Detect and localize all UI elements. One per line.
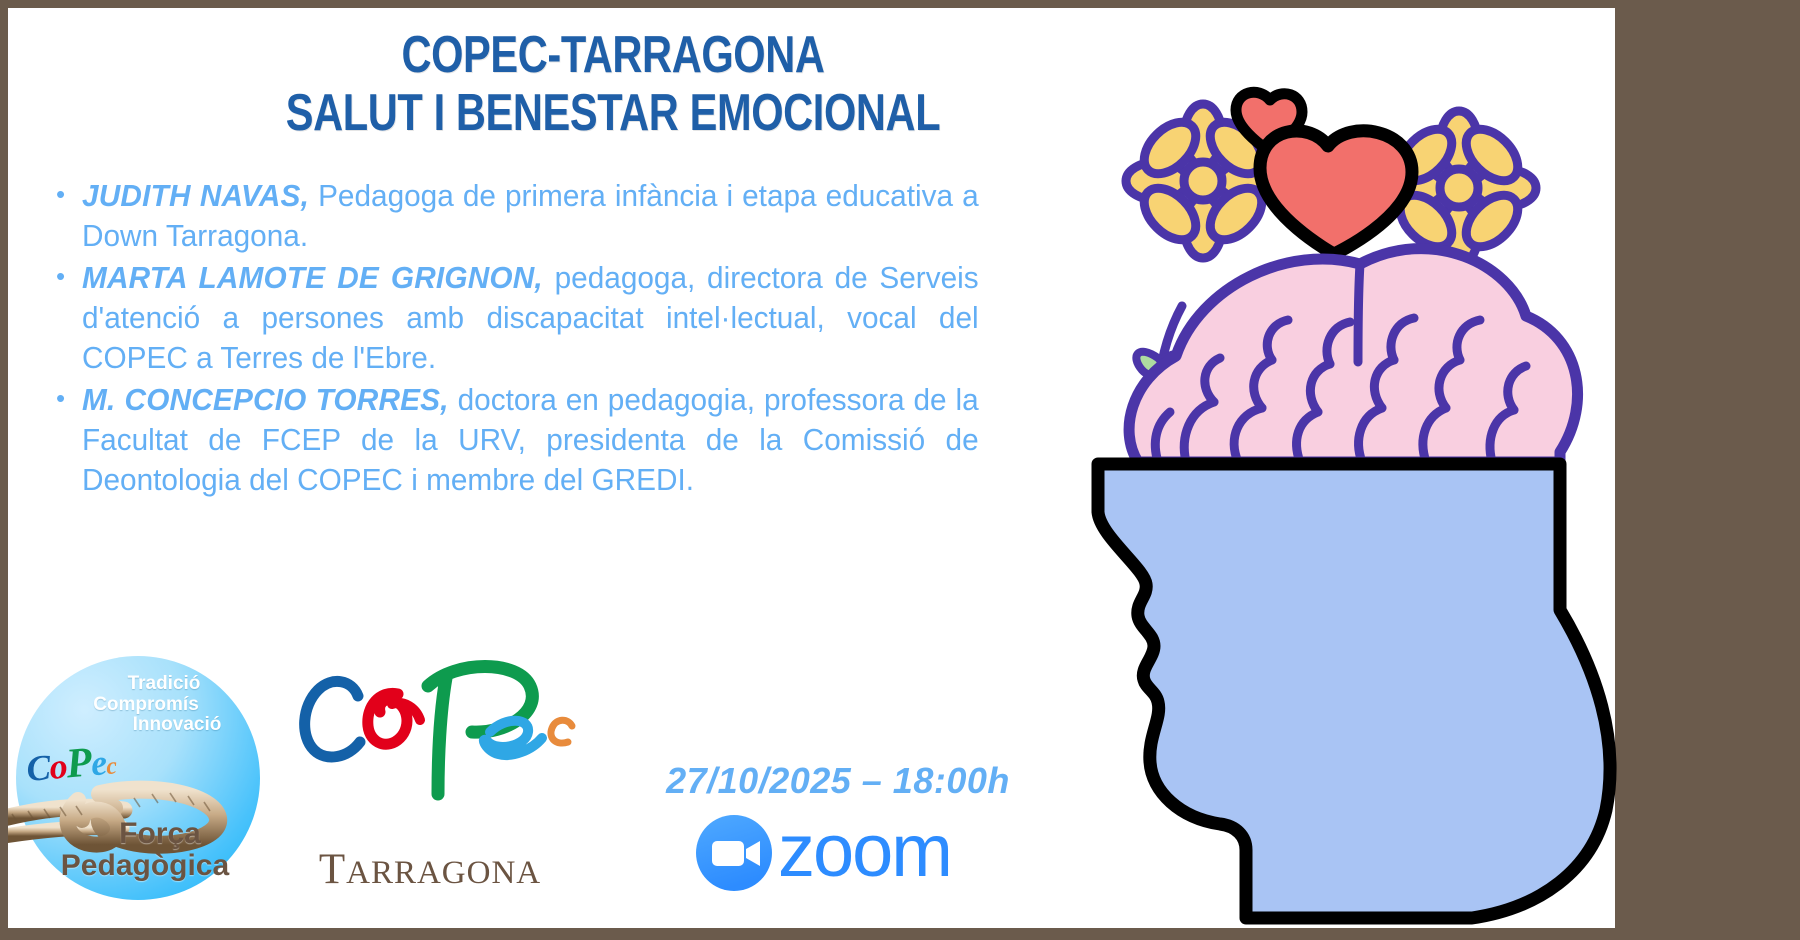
- wordmark-initial: T: [319, 846, 346, 893]
- bullet-marker: •: [56, 176, 82, 214]
- svg-text:zoom: zoom: [778, 814, 951, 892]
- list-item-text: JUDITH NAVAS, Pedagoga de primera infànc…: [82, 176, 979, 256]
- badge-bottom-line-1: Força: [16, 818, 260, 850]
- copec-logo: [280, 608, 580, 808]
- zoom-logo: zoom: [628, 814, 1048, 892]
- badge-slogan: Tradició Compromís Innovació: [16, 674, 260, 736]
- brain-illustration: [1129, 249, 1577, 462]
- badge-slogan-line-1: Tradició: [16, 674, 260, 695]
- zoom-camera-icon: [696, 815, 772, 891]
- title-line-2: SALUT I BENESTAR EMOCIONAL: [129, 84, 1097, 142]
- zoom-wordmark: zoom: [778, 814, 951, 892]
- head-brain-illustration: [1040, 50, 1780, 940]
- poster-canvas: COPEC-TARRAGONA SALUT I BENESTAR EMOCION…: [0, 0, 1800, 940]
- head-profile-silhouette: [1098, 464, 1610, 918]
- copec-logo-wordmark: TARRAGONA: [280, 848, 580, 891]
- badge-slogan-line-2: Compromís: [16, 695, 260, 716]
- heart-large-icon: [1260, 131, 1412, 254]
- list-item: • MARTA LAMOTE DE GRIGNON, pedagoga, dir…: [56, 258, 1016, 378]
- list-item-text: M. CONCEPCIO TORRES, doctora en pedagogi…: [82, 380, 979, 500]
- bullet-marker: •: [56, 380, 82, 418]
- speakers-list: • JUDITH NAVAS, Pedagoga de primera infà…: [56, 176, 1016, 502]
- list-item: • JUDITH NAVAS, Pedagoga de primera infà…: [56, 176, 1016, 256]
- forca-pedagogica-badge: Tradició Compromís Innovació CoPec: [16, 656, 260, 900]
- speaker-name: MARTA LAMOTE DE GRIGNON,: [82, 260, 543, 295]
- page-title: COPEC-TARRAGONA SALUT I BENESTAR EMOCION…: [8, 26, 1218, 142]
- event-datetime: 27/10/2025 – 18:00h: [628, 760, 1048, 802]
- wordmark-rest: ARRAGONA: [346, 855, 541, 891]
- speaker-name: M. CONCEPCIO TORRES,: [82, 382, 449, 417]
- bullet-marker: •: [56, 258, 82, 296]
- speaker-name: JUDITH NAVAS,: [82, 178, 309, 213]
- badge-bottom-text: Força Pedagògica: [16, 818, 260, 882]
- badge-bottom-line-2: Pedagògica: [16, 850, 260, 882]
- title-line-1: COPEC-TARRAGONA: [129, 26, 1097, 84]
- badge-slogan-line-3: Innovació: [16, 715, 260, 736]
- list-item: • M. CONCEPCIO TORRES, doctora en pedago…: [56, 380, 1016, 500]
- list-item-text: MARTA LAMOTE DE GRIGNON, pedagoga, direc…: [82, 258, 979, 378]
